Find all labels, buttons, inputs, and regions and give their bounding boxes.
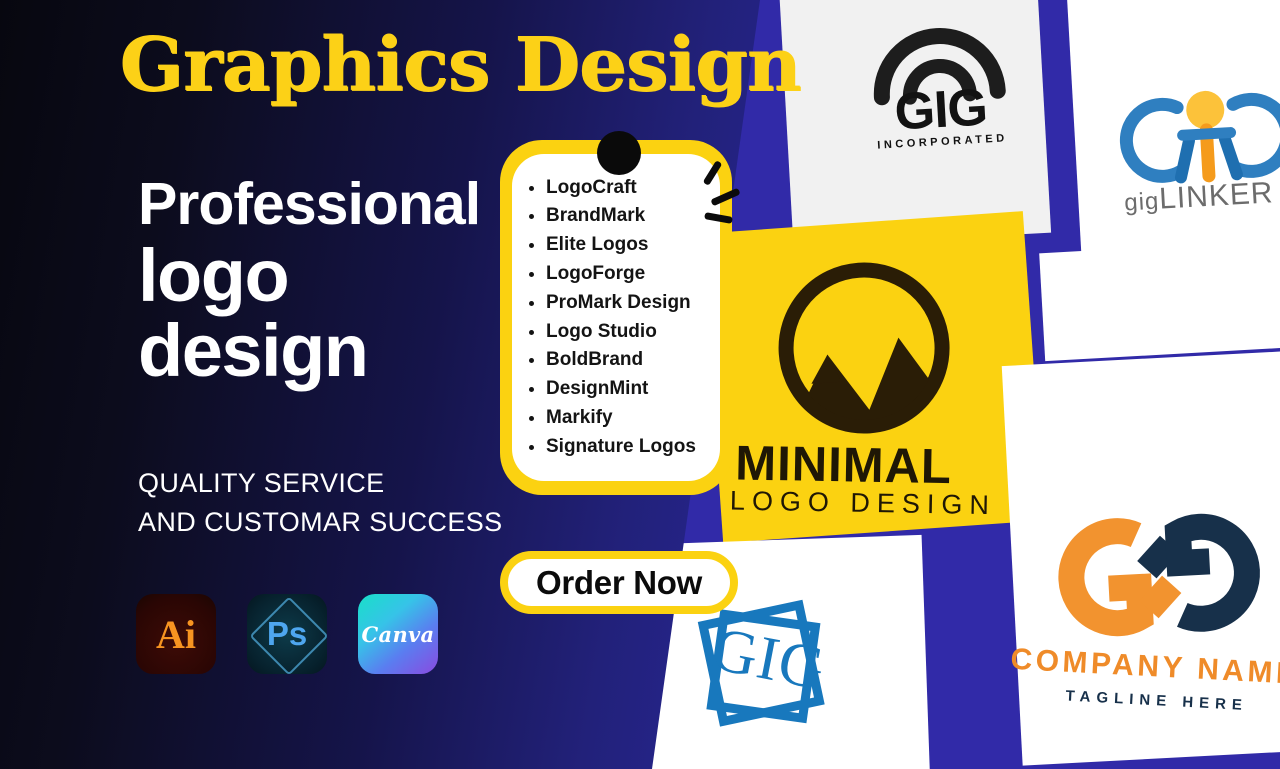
list-item: LogoCraft bbox=[546, 174, 696, 203]
minimal-subtitle: LOGO DESIGN bbox=[730, 486, 1010, 522]
tagline: QUALITY SERVICE AND CUSTOMAR SUCCESS bbox=[138, 464, 503, 542]
list-item: Logo Studio bbox=[546, 318, 696, 347]
services-card: LogoCraft BrandMark Elite Logos LogoForg… bbox=[500, 140, 732, 495]
giglinker-title-light: gig bbox=[1124, 188, 1160, 217]
page-title: Graphics Design bbox=[119, 22, 800, 108]
giglinker-mark-icon bbox=[1114, 79, 1280, 189]
subheadline-professional: Professional bbox=[138, 170, 480, 238]
tagline-line-2: AND CUSTOMAR SUCCESS bbox=[138, 503, 503, 542]
adobe-illustrator-icon: Ai bbox=[136, 594, 216, 674]
adobe-illustrator-glyph: Ai bbox=[156, 611, 196, 658]
list-item: ProMark Design bbox=[546, 289, 696, 318]
company-name-subtitle: TAGLINE HERE bbox=[1007, 684, 1280, 717]
list-item: Markify bbox=[546, 404, 696, 433]
tagline-line-1: QUALITY SERVICE bbox=[138, 464, 503, 503]
adobe-photoshop-glyph: Ps bbox=[267, 615, 307, 653]
subheadline-line-logo: logo bbox=[138, 238, 367, 313]
logo-company-name: COMPANY NAME TAGLINE HERE bbox=[1024, 493, 1280, 726]
logo-giglinker: gigLINKER bbox=[1114, 79, 1280, 239]
list-item: Elite Logos bbox=[546, 231, 696, 260]
services-list: LogoCraft BrandMark Elite Logos LogoForg… bbox=[512, 174, 696, 462]
banner-canvas: GIG INCORPORATED gigLINKER MINIMAL LO bbox=[0, 0, 1280, 769]
subheadline-line-design: design bbox=[138, 313, 367, 388]
adobe-photoshop-icon: Ps bbox=[247, 594, 327, 674]
list-item: BrandMark bbox=[546, 202, 696, 231]
list-item: LogoForge bbox=[546, 260, 696, 289]
giglinker-wordmark: gigLINKER bbox=[1123, 176, 1274, 218]
logo-gig-square: GIG bbox=[690, 600, 860, 730]
logo-gig-incorporated: GIG INCORPORATED bbox=[856, 28, 1023, 167]
software-icons-row: Ai Ps Canva bbox=[136, 594, 438, 674]
giglinker-title-bold: LINKER bbox=[1158, 176, 1274, 215]
list-item: Signature Logos bbox=[546, 433, 696, 462]
gd-monogram-icon bbox=[1030, 494, 1280, 657]
pin-dot-icon bbox=[597, 131, 641, 175]
logo-card-filler bbox=[1039, 239, 1280, 361]
list-item: DesignMint bbox=[546, 375, 696, 404]
subheadline-logo-design: logo design bbox=[138, 238, 367, 389]
services-card-inner: LogoCraft BrandMark Elite Logos LogoForg… bbox=[512, 154, 720, 481]
mountain-circle-icon bbox=[763, 254, 965, 447]
list-item: BoldBrand bbox=[546, 346, 696, 375]
canva-icon: Canva bbox=[358, 594, 438, 674]
order-now-button[interactable]: Order Now bbox=[500, 551, 738, 614]
canva-glyph: Canva bbox=[362, 622, 435, 647]
